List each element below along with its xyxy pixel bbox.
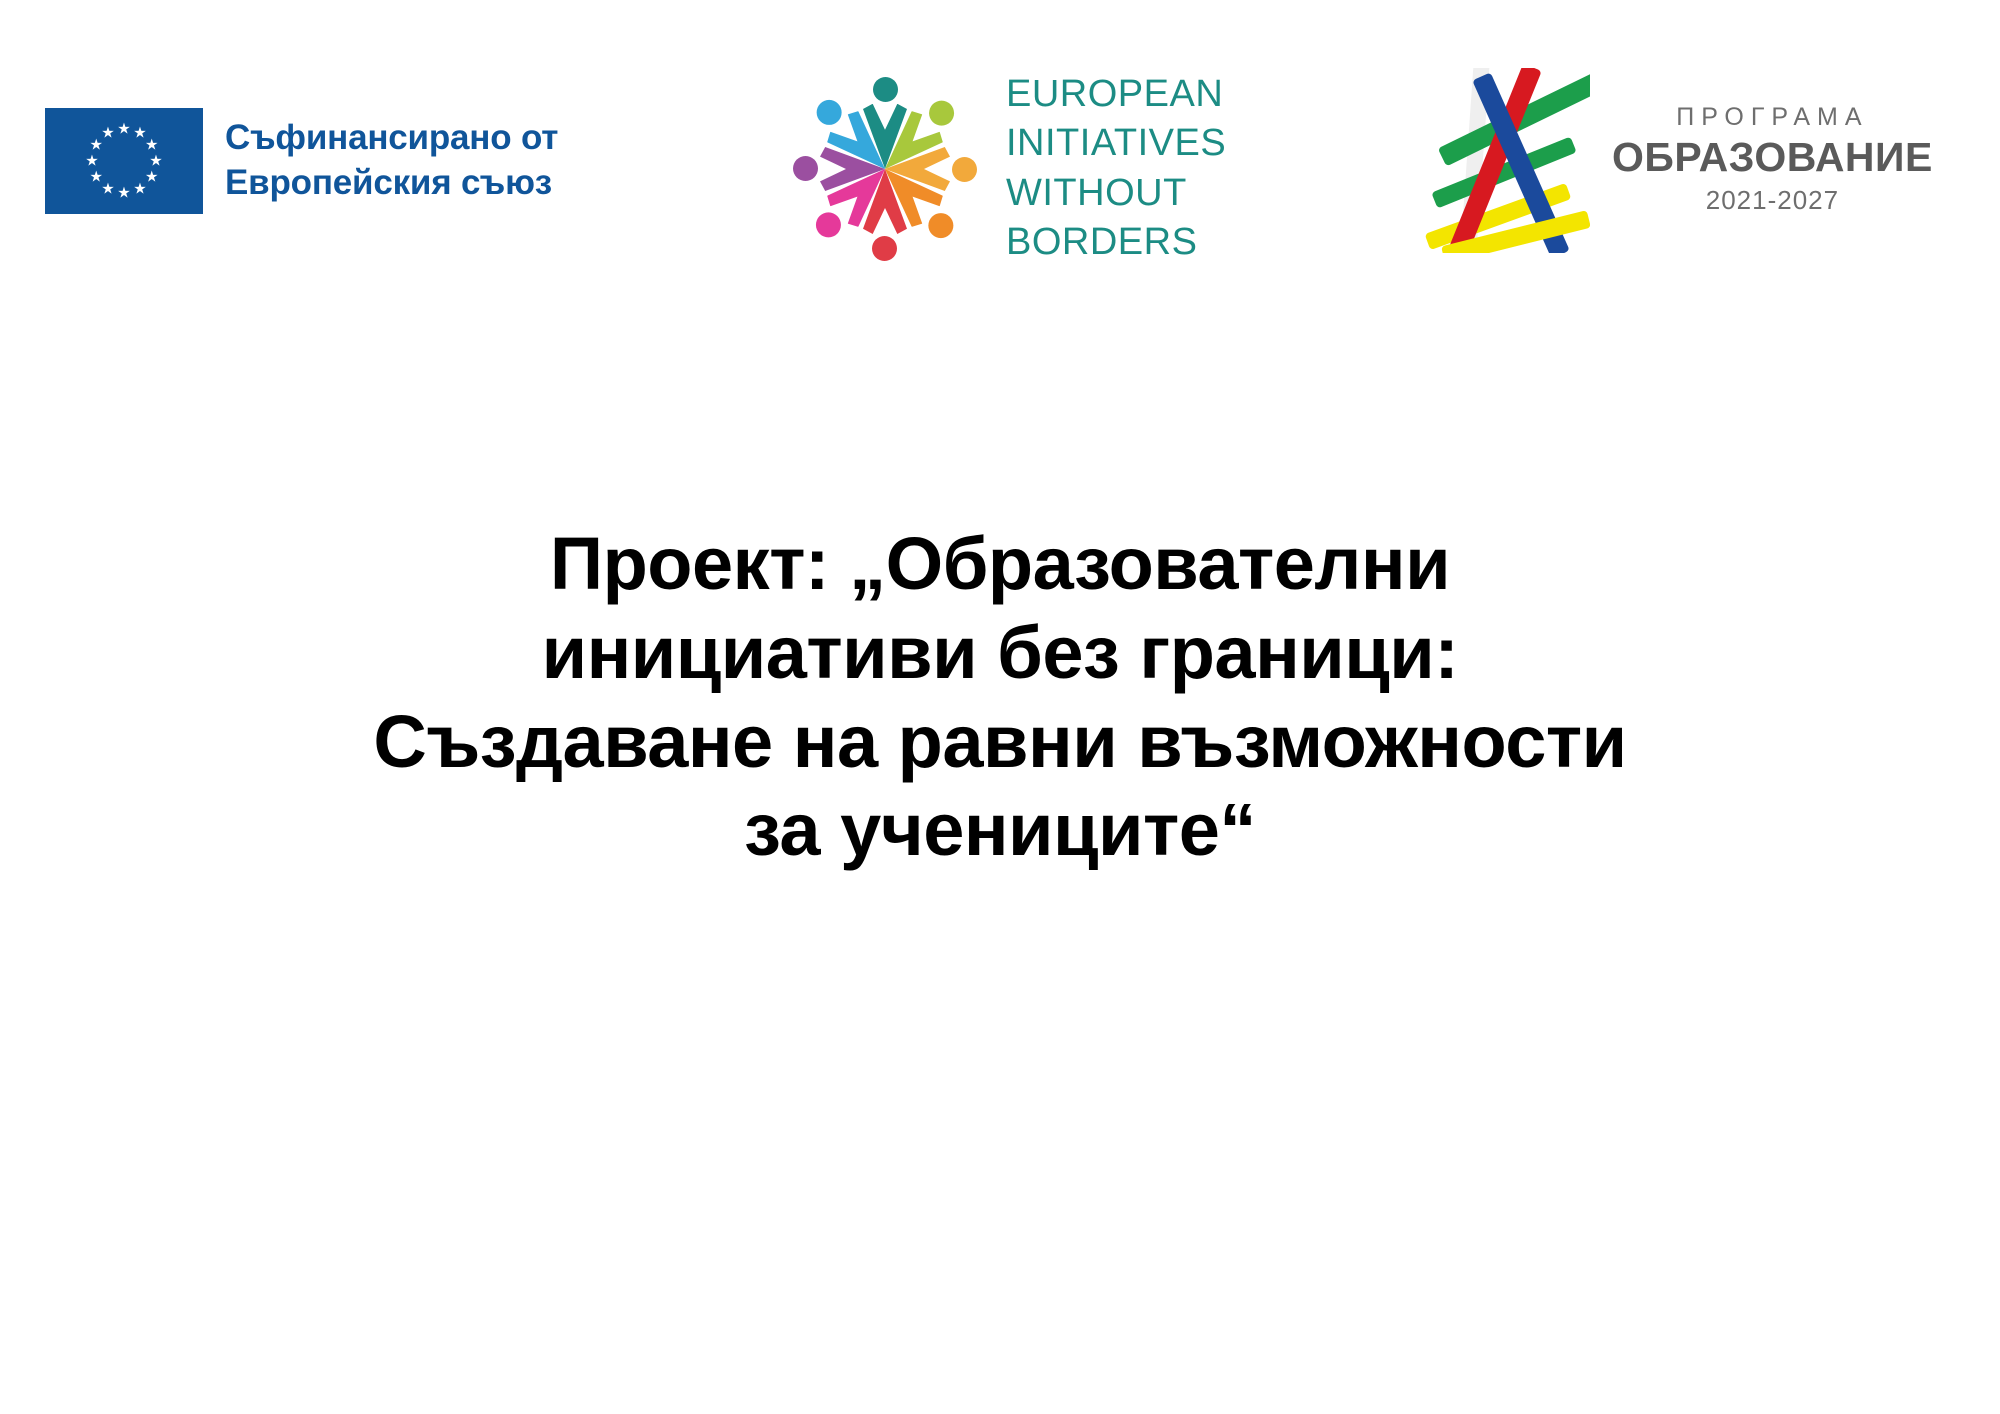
programme-kicker: ПРОГРАМА xyxy=(1612,101,1933,134)
ribbon-cross-icon xyxy=(1415,68,1590,253)
eiwb-logo: EUROPEAN INITIATIVES WITHOUT BORDERS xyxy=(790,70,1226,268)
eu-funding-logo: Съфинансирано от Европейския съюз xyxy=(45,108,558,214)
eu-flag-icon xyxy=(45,108,203,214)
people-circle-icon xyxy=(790,76,980,261)
title-line: Проект: „Образователни xyxy=(0,520,2000,609)
logo-band: Съфинансирано от Европейския съюз EUROPE… xyxy=(0,0,2000,300)
programme-title: ОБРАЗОВАНИЕ xyxy=(1612,134,1933,181)
programme-education-text: ПРОГРАМА ОБРАЗОВАНИЕ 2021-2027 xyxy=(1612,101,1933,220)
eiwb-logo-text: EUROPEAN INITIATIVES WITHOUT BORDERS xyxy=(1006,70,1226,268)
title-line: за учениците“ xyxy=(0,786,2000,875)
programme-education-logo: ПРОГРАМА ОБРАЗОВАНИЕ 2021-2027 xyxy=(1415,68,1933,253)
eu-funding-caption: Съфинансирано от Европейския съюз xyxy=(225,116,558,206)
programme-years: 2021-2027 xyxy=(1612,181,1933,220)
slide-title: Проект: „Образователни инициативи без гр… xyxy=(0,520,2000,875)
title-line: Създаване на равни възможности xyxy=(0,698,2000,787)
title-line: инициативи без граници: xyxy=(0,609,2000,698)
